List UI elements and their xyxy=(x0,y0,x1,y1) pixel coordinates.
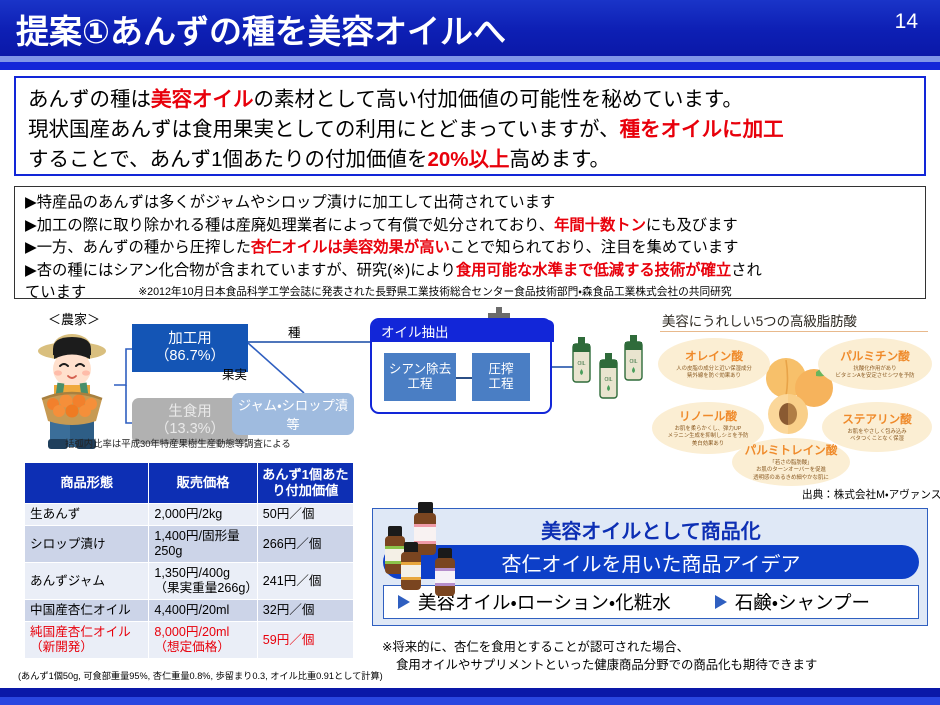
cell-value: 266円／個 xyxy=(257,526,353,563)
fatty-acid-stearic: ステアリン酸 お肌をやさしく包み込み ベタつくことなく保湿 xyxy=(822,402,932,452)
fatty-acid-divider xyxy=(660,331,928,332)
cell-price: 4,400円/20ml xyxy=(149,600,257,622)
product-item-2: 石鹸・シャンプー xyxy=(715,589,870,615)
header-sale-price: 販売価格 xyxy=(149,463,257,504)
bullet4-emphasis: 食用可能な水準まで低減する技術が確立 xyxy=(456,262,731,279)
table-calculation-note: (あんず1個50g, 可食部重量95%, 杏仁重量0.8%, 歩留まり0.3, … xyxy=(18,668,383,682)
farmer-illustration xyxy=(20,325,124,449)
bullet2-emphasis: 年間十数トン xyxy=(554,217,646,234)
palmitic-desc: 抗酸化作用があり ビタミンAを安定させシワを予防 xyxy=(835,366,914,380)
svg-text:OIL: OIL xyxy=(577,361,585,367)
table-header-row: 商品形態 販売価格 あんず1個あたり付加価値 xyxy=(25,463,354,504)
process-box-cyanide-removal: シアン除去 工程 xyxy=(384,353,456,401)
lead-line1-text-a: あんずの種は xyxy=(28,88,151,111)
page-title: 提案①あんずの種を美容オイルへ xyxy=(16,5,506,53)
oleic-name: オレイン酸 xyxy=(685,348,743,364)
header-added-value: あんず1個あたり付加価値 xyxy=(257,463,353,504)
fresh-label: 生食用 xyxy=(168,404,212,421)
cell-form: あんずジャム xyxy=(25,563,149,600)
supply-flow-diagram: ＜農家＞ 加工用 （86.7%） 生 xyxy=(0,303,660,463)
cell-price: 1,400円/固形量250g xyxy=(149,526,257,563)
cosmetic-bottles-illustration xyxy=(376,494,492,598)
cell-price: 2,000円/2kg xyxy=(149,504,257,526)
page-number: 14 xyxy=(895,10,918,34)
svg-text:OIL: OIL xyxy=(629,359,637,365)
connector-panel-to-bottles xyxy=(552,366,574,368)
bullet-item-4: ▶杏の種にはシアン化合物が含まれていますが、研究(※)により食用可能な水準まで低… xyxy=(25,260,915,283)
palmitoleic-name: パルミトレイン酸 xyxy=(745,442,838,458)
oil-bottles-illustration: OIL OIL OIL xyxy=(572,331,646,403)
future-prospects-note: ※将来的に、杏仁を食用とすることが認可された場合、 食用オイルやサプリメントとい… xyxy=(382,638,817,674)
cell-form: 中国産杏仁オイル xyxy=(25,600,149,622)
pressing-line-1: 圧搾 xyxy=(488,362,513,377)
lead-line1-text-b: の素材として高い付加価値の可能性を秘めています。 xyxy=(254,88,743,111)
bullet-item-1: ▶特産品のあんずは多くがジャムやシロップ漬けに加工して出荷されています xyxy=(25,192,915,215)
table-row: 中国産杏仁オイル 4,400円/20ml 32円／個 xyxy=(25,600,354,622)
bullet-item-3: ▶一方、あんずの種から圧搾した杏仁オイルは美容効果が高いことで知られており、注目… xyxy=(25,237,915,260)
bullet-item-4-continuation: ています※2012年10月日本食品科学工学会誌に発表された長野県工業技術総合セン… xyxy=(25,282,915,305)
slide-title-bar: 提案①あんずの種を美容オイルへ 14 xyxy=(0,0,940,56)
oleic-desc: 人の皮脂の成分と近い保湿成分 紫外線を防ぐ効果あり xyxy=(676,366,751,380)
header-product-form: 商品形態 xyxy=(25,463,149,504)
cell-value: 50円／個 xyxy=(257,504,353,526)
table-row: あんずジャム 1,350円/400g（果実重量266g） 241円／個 xyxy=(25,563,354,600)
label-fruit: 果実 xyxy=(222,364,247,383)
lead-line-3: することで、あんず1個あたりの付加価値を20%以上高めます。 xyxy=(28,145,912,175)
bullet-source-note: ※2012年10月日本食品科学工学会誌に発表された長野県工業技術総合センター食品… xyxy=(138,286,731,298)
linoleic-desc: お肌を柔らかくし、弾力UP メラニン生成を抑制しシミを予防 美白効果あり xyxy=(668,426,749,448)
lead-line1-emphasis: 美容オイル xyxy=(151,88,254,111)
bullet-list-box: ▶特産品のあんずは多くがジャムやシロップ漬けに加工して出荷されています ▶加工の… xyxy=(14,186,926,299)
lead-line3-text-b: 高めます。 xyxy=(510,148,610,171)
bullet3-text-b: ことで知られており、注目を集めています xyxy=(450,239,739,256)
stearic-desc: お肌をやさしく包み込み ベタつくことなく保湿 xyxy=(847,429,906,443)
table-row-new-product: 純国産杏仁オイル（新開発） 8,000円/20ml（想定価格） 59円／個 xyxy=(25,622,354,659)
fatty-acid-source: 出典：株式会社M・アヴァンス xyxy=(802,487,940,502)
flow-box-jam-syrup: ジャム・シロップ漬等 xyxy=(232,393,354,435)
cell-form: 生あんず xyxy=(25,504,149,526)
bullet4-cont-text: ています xyxy=(25,284,86,301)
triangle-bullet-icon xyxy=(715,595,727,609)
fatty-acid-palmitoleic: パルミトレイン酸 「若さの脂肪酸」 お肌のターンオーバーを促進 透明感のあるきめ… xyxy=(732,438,850,486)
palmitoleic-desc: 「若さの脂肪酸」 お肌のターンオーバーを促進 透明感のあるきめ細やかな肌に xyxy=(753,460,828,482)
bullet2-text-a: ▶加工の際に取り除かれる種は産廃処理業者によって有償で処分されており、 xyxy=(25,217,554,234)
lead-line2-emphasis: 種をオイルに加工 xyxy=(620,118,784,141)
cell-price: 8,000円/20ml（想定価格） xyxy=(149,622,257,659)
lead-line2-text-a: 現状国産あんずは食用果実としての利用にとどまっていますが、 xyxy=(28,118,620,141)
table-row: 生あんず 2,000円/2kg 50円／個 xyxy=(25,504,354,526)
title-stripe-dark xyxy=(0,62,940,70)
table-row: シロップ漬け 1,400円/固形量250g 266円／個 xyxy=(25,526,354,563)
cell-price: 1,350円/400g（果実重量266g） xyxy=(149,563,257,600)
processing-label: 加工用 xyxy=(168,331,212,348)
product-item-2-label: 石鹸・シャンプー xyxy=(735,589,870,615)
pressing-line-2: 工程 xyxy=(488,377,513,392)
fatty-acid-palmitic: パルミチン酸 抗酸化作用があり ビタミンAを安定させシワを予防 xyxy=(818,338,932,390)
lead-line3-text-a: することで、あんず1個あたりの付加価値を xyxy=(28,148,427,171)
lead-line-1: あんずの種は美容オイルの素材として高い付加価値の可能性を秘めています。 xyxy=(28,85,912,115)
oil-extraction-panel: オイル抽出 シアン除去 工程 圧搾 工程 xyxy=(370,318,552,414)
lead-statement-box: あんずの種は美容オイルの素材として高い付加価値の可能性を秘めています。 現状国産… xyxy=(14,76,926,176)
label-seed: 種 xyxy=(288,322,301,341)
cyanide-line-2: 工程 xyxy=(407,377,432,392)
future-note-line-2: 食用オイルやサプリメントといった健康商品分野での商品化も期待できます xyxy=(382,656,817,674)
lead-line3-emphasis: 20%以上 xyxy=(427,148,509,171)
process-connector xyxy=(456,377,472,379)
processing-percent: （86.7%） xyxy=(155,348,225,365)
bullet4-text-b: され xyxy=(731,262,762,279)
bullet2-text-b: にも及びます xyxy=(646,217,738,234)
bullet3-text-a: ▶一方、あんずの種から圧搾した xyxy=(25,239,251,256)
fatty-acid-title: 美容にうれしい5つの高級脂肪酸 xyxy=(662,310,857,330)
fatty-acid-infographic: 美容にうれしい5つの高級脂肪酸 オレイン酸 人の皮脂の成分と近い保湿成分 紫外線… xyxy=(650,306,940,486)
footer-stripe-dark xyxy=(0,688,940,697)
price-comparison-table: 商品形態 販売価格 あんず1個あたり付加価値 生あんず 2,000円/2kg 5… xyxy=(24,462,354,659)
fatty-acid-oleic: オレイン酸 人の皮脂の成分と近い保湿成分 紫外線を防ぐ効果あり xyxy=(658,338,770,390)
cell-value: 32円／個 xyxy=(257,600,353,622)
diagram-footnote: 括弧内比率は平成30年特産果樹生産動態等調査による xyxy=(65,436,291,450)
lead-line-2: 現状国産あんずは食用果実としての利用にとどまっていますが、種をオイルに加工 xyxy=(28,115,912,145)
svg-text:OIL: OIL xyxy=(604,377,612,383)
bullet3-emphasis: 杏仁オイルは美容効果が高い xyxy=(251,239,450,256)
bullet-item-2: ▶加工の際に取り除かれる種は産廃処理業者によって有償で処分されており、年間十数ト… xyxy=(25,215,915,238)
bullet4-text-a: ▶杏の種にはシアン化合物が含まれていますが、研究(※)により xyxy=(25,262,456,279)
cell-form: 純国産杏仁オイル（新開発） xyxy=(25,622,149,659)
process-box-pressing: 圧搾 工程 xyxy=(472,353,530,401)
cyanide-line-1: シアン除去 xyxy=(389,362,451,377)
oil-extraction-title: オイル抽出 xyxy=(372,320,554,342)
linoleic-name: リノール酸 xyxy=(679,408,737,424)
connector-fruit-line xyxy=(248,341,310,397)
cell-form: シロップ漬け xyxy=(25,526,149,563)
palmitic-name: パルミチン酸 xyxy=(840,348,910,364)
stearic-name: ステアリン酸 xyxy=(842,411,912,427)
footer-stripe-light xyxy=(0,697,940,705)
future-note-line-1: ※将来的に、杏仁を食用とすることが認可された場合、 xyxy=(382,640,689,654)
cell-value: 241円／個 xyxy=(257,563,353,600)
cell-value: 59円／個 xyxy=(257,622,353,659)
